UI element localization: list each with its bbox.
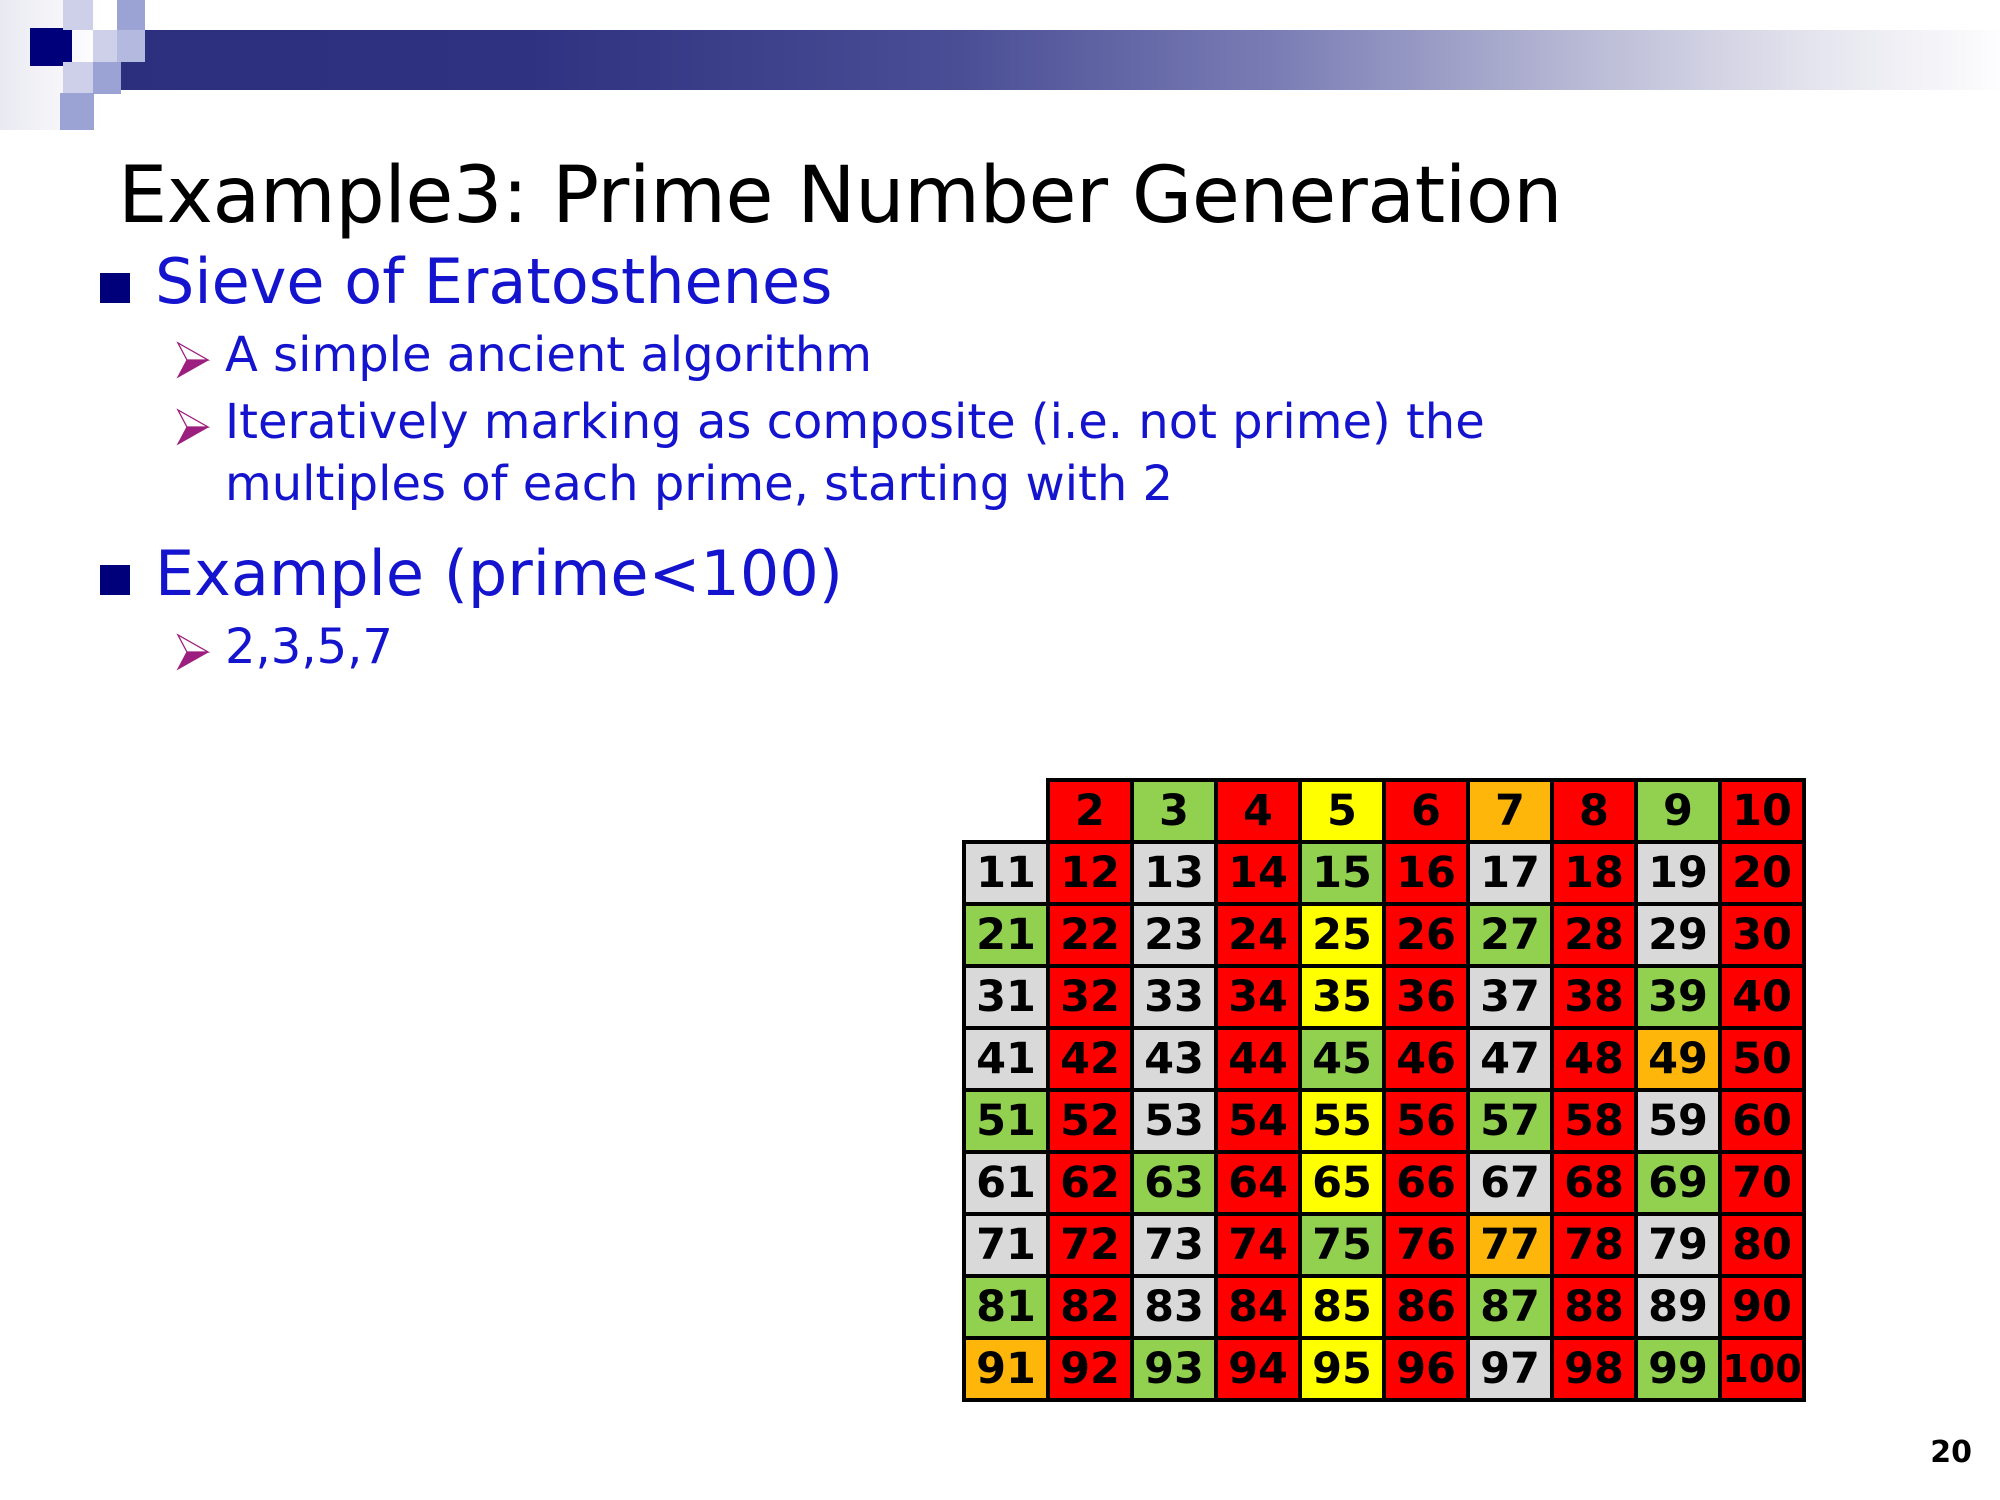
sieve-cell-42: 42 bbox=[1048, 1028, 1132, 1090]
sieve-cell-66: 66 bbox=[1384, 1152, 1468, 1214]
sieve-cell-59: 59 bbox=[1636, 1090, 1720, 1152]
sieve-cell-97: 97 bbox=[1468, 1338, 1552, 1400]
sieve-cell-58: 58 bbox=[1552, 1090, 1636, 1152]
sieve-cell-74: 74 bbox=[1216, 1214, 1300, 1276]
sieve-cell-98: 98 bbox=[1552, 1338, 1636, 1400]
banner-block-midblue-3 bbox=[117, 0, 145, 30]
sieve-cell-70: 70 bbox=[1720, 1152, 1804, 1214]
sieve-cell-4: 4 bbox=[1216, 780, 1300, 842]
bullet-label: Example (prime<100) bbox=[155, 537, 843, 610]
sieve-cell-19: 19 bbox=[1636, 842, 1720, 904]
sieve-cell-40: 40 bbox=[1720, 966, 1804, 1028]
sieve-cell-34: 34 bbox=[1216, 966, 1300, 1028]
sieve-cell-88: 88 bbox=[1552, 1276, 1636, 1338]
sieve-cell-37: 37 bbox=[1468, 966, 1552, 1028]
sieve-cell-68: 68 bbox=[1552, 1152, 1636, 1214]
sieve-cell-29: 29 bbox=[1636, 904, 1720, 966]
sieve-cell-96: 96 bbox=[1384, 1338, 1468, 1400]
sieve-grid-row: 11121314151617181920 bbox=[964, 842, 1804, 904]
sieve-grid-row: 61626364656667686970 bbox=[964, 1152, 1804, 1214]
sieve-cell-100: 100 bbox=[1720, 1338, 1804, 1400]
sieve-grid-row: 21222324252627282930 bbox=[964, 904, 1804, 966]
sieve-cell-83: 83 bbox=[1132, 1276, 1216, 1338]
sieve-cell-6: 6 bbox=[1384, 780, 1468, 842]
sieve-grid-row: 41424344454647484950 bbox=[964, 1028, 1804, 1090]
sieve-cell-82: 82 bbox=[1048, 1276, 1132, 1338]
sieve-cell-52: 52 bbox=[1048, 1090, 1132, 1152]
sieve-cell-60: 60 bbox=[1720, 1090, 1804, 1152]
sieve-cell-18: 18 bbox=[1552, 842, 1636, 904]
slide-title: Example3: Prime Number Generation bbox=[118, 157, 1918, 235]
sieve-cell-95: 95 bbox=[1300, 1338, 1384, 1400]
sieve-cell-85: 85 bbox=[1300, 1276, 1384, 1338]
banner-block-lightblue-3 bbox=[93, 30, 120, 63]
sieve-grid-row: 71727374757677787980 bbox=[964, 1214, 1804, 1276]
sieve-cell-44: 44 bbox=[1216, 1028, 1300, 1090]
sieve-cell-10: 10 bbox=[1720, 780, 1804, 842]
sieve-cell-55: 55 bbox=[1300, 1090, 1384, 1152]
arrow-bullet-icon bbox=[175, 632, 211, 672]
sieve-cell-22: 22 bbox=[1048, 904, 1132, 966]
sieve-grid-row: 51525354555657585960 bbox=[964, 1090, 1804, 1152]
sieve-cell-63: 63 bbox=[1132, 1152, 1216, 1214]
sieve-grid-row: 81828384858687888990 bbox=[964, 1276, 1804, 1338]
sieve-cell-80: 80 bbox=[1720, 1214, 1804, 1276]
banner-block-lightblue-4 bbox=[117, 30, 145, 62]
sieve-cell-61: 61 bbox=[964, 1152, 1048, 1214]
sieve-cell-33: 33 bbox=[1132, 966, 1216, 1028]
sieve-cell-81: 81 bbox=[964, 1276, 1048, 1338]
bullet-label: A simple ancient algorithm bbox=[225, 324, 872, 386]
sieve-cell-27: 27 bbox=[1468, 904, 1552, 966]
sieve-cell-32: 32 bbox=[1048, 966, 1132, 1028]
banner-block-lightblue-1 bbox=[63, 0, 93, 30]
banner-gradient-bar bbox=[110, 30, 2000, 90]
sieve-cell-12: 12 bbox=[1048, 842, 1132, 904]
sieve-cell-84: 84 bbox=[1216, 1276, 1300, 1338]
sieve-cell-53: 53 bbox=[1132, 1090, 1216, 1152]
sieve-cell-41: 41 bbox=[964, 1028, 1048, 1090]
sieve-cell-30: 30 bbox=[1720, 904, 1804, 966]
sieve-cell-78: 78 bbox=[1552, 1214, 1636, 1276]
sieve-cell-16: 16 bbox=[1384, 842, 1468, 904]
sieve-cell-2: 2 bbox=[1048, 780, 1132, 842]
sieve-cell-7: 7 bbox=[1468, 780, 1552, 842]
sieve-of-eratosthenes-grid: 2345678910111213141516171819202122232425… bbox=[962, 778, 1806, 1402]
sieve-cell-35: 35 bbox=[1300, 966, 1384, 1028]
bullet-label: 2,3,5,7 bbox=[225, 616, 393, 678]
sieve-cell-87: 87 bbox=[1468, 1276, 1552, 1338]
bullet-sieve-of-eratosthenes: Sieve of Eratosthenes bbox=[100, 245, 1500, 318]
banner-block-navy bbox=[30, 28, 72, 66]
bullet-simple-ancient-algorithm: A simple ancient algorithm bbox=[175, 324, 1500, 386]
sieve-cell-31: 31 bbox=[964, 966, 1048, 1028]
sieve-cell-94: 94 bbox=[1216, 1338, 1300, 1400]
sieve-cell-90: 90 bbox=[1720, 1276, 1804, 1338]
sieve-cell-50: 50 bbox=[1720, 1028, 1804, 1090]
sieve-cell-86: 86 bbox=[1384, 1276, 1468, 1338]
bullet-example-prime-100: Example (prime<100) bbox=[100, 537, 1500, 610]
sieve-cell-92: 92 bbox=[1048, 1338, 1132, 1400]
sieve-cell-empty bbox=[964, 780, 1048, 842]
square-bullet-icon bbox=[100, 273, 130, 303]
sieve-cell-93: 93 bbox=[1132, 1338, 1216, 1400]
sieve-cell-11: 11 bbox=[964, 842, 1048, 904]
sieve-cell-8: 8 bbox=[1552, 780, 1636, 842]
sieve-cell-73: 73 bbox=[1132, 1214, 1216, 1276]
bullet-label: Sieve of Eratosthenes bbox=[155, 245, 832, 318]
sieve-cell-72: 72 bbox=[1048, 1214, 1132, 1276]
sieve-cell-47: 47 bbox=[1468, 1028, 1552, 1090]
sieve-cell-49: 49 bbox=[1636, 1028, 1720, 1090]
arrow-bullet-icon bbox=[175, 407, 211, 447]
sieve-cell-75: 75 bbox=[1300, 1214, 1384, 1276]
sieve-cell-43: 43 bbox=[1132, 1028, 1216, 1090]
sieve-cell-17: 17 bbox=[1468, 842, 1552, 904]
sieve-cell-71: 71 bbox=[964, 1214, 1048, 1276]
sieve-cell-77: 77 bbox=[1468, 1214, 1552, 1276]
bullet-prime-list: 2,3,5,7 bbox=[175, 616, 1500, 678]
sieve-cell-28: 28 bbox=[1552, 904, 1636, 966]
sieve-cell-45: 45 bbox=[1300, 1028, 1384, 1090]
sieve-cell-3: 3 bbox=[1132, 780, 1216, 842]
sieve-cell-64: 64 bbox=[1216, 1152, 1300, 1214]
sieve-cell-67: 67 bbox=[1468, 1152, 1552, 1214]
sieve-cell-15: 15 bbox=[1300, 842, 1384, 904]
banner-block-midblue-2 bbox=[93, 62, 121, 94]
sieve-cell-21: 21 bbox=[964, 904, 1048, 966]
sieve-cell-23: 23 bbox=[1132, 904, 1216, 966]
sieve-cell-24: 24 bbox=[1216, 904, 1300, 966]
sieve-cell-57: 57 bbox=[1468, 1090, 1552, 1152]
sieve-cell-14: 14 bbox=[1216, 842, 1300, 904]
sieve-cell-36: 36 bbox=[1384, 966, 1468, 1028]
sieve-cell-76: 76 bbox=[1384, 1214, 1468, 1276]
sieve-cell-46: 46 bbox=[1384, 1028, 1468, 1090]
bullet-label: Iteratively marking as composite (i.e. n… bbox=[225, 391, 1485, 516]
sieve-cell-99: 99 bbox=[1636, 1338, 1720, 1400]
banner-block-midblue-1 bbox=[60, 93, 94, 130]
sieve-cell-65: 65 bbox=[1300, 1152, 1384, 1214]
arrow-bullet-icon bbox=[175, 340, 211, 380]
slide-number: 20 bbox=[1930, 1435, 1972, 1470]
sieve-cell-20: 20 bbox=[1720, 842, 1804, 904]
sieve-cell-48: 48 bbox=[1552, 1028, 1636, 1090]
sieve-cell-79: 79 bbox=[1636, 1214, 1720, 1276]
sieve-cell-69: 69 bbox=[1636, 1152, 1720, 1214]
sieve-cell-26: 26 bbox=[1384, 904, 1468, 966]
sieve-grid-body: 2345678910111213141516171819202122232425… bbox=[964, 780, 1804, 1400]
sieve-cell-13: 13 bbox=[1132, 842, 1216, 904]
sieve-cell-38: 38 bbox=[1552, 966, 1636, 1028]
sieve-cell-89: 89 bbox=[1636, 1276, 1720, 1338]
sieve-cell-51: 51 bbox=[964, 1090, 1048, 1152]
sieve-cell-25: 25 bbox=[1300, 904, 1384, 966]
sieve-grid-row: 919293949596979899100 bbox=[964, 1338, 1804, 1400]
sieve-cell-5: 5 bbox=[1300, 780, 1384, 842]
slide-body: Sieve of Eratosthenes A simple ancient a… bbox=[0, 245, 1500, 683]
sieve-cell-62: 62 bbox=[1048, 1152, 1132, 1214]
sieve-cell-39: 39 bbox=[1636, 966, 1720, 1028]
sieve-cell-9: 9 bbox=[1636, 780, 1720, 842]
sieve-cell-54: 54 bbox=[1216, 1090, 1300, 1152]
sieve-cell-56: 56 bbox=[1384, 1090, 1468, 1152]
banner-block-lightblue-2 bbox=[63, 62, 94, 93]
sieve-grid-row: 31323334353637383940 bbox=[964, 966, 1804, 1028]
sieve-grid-row: 2345678910 bbox=[964, 780, 1804, 842]
slide-header-banner bbox=[0, 0, 2000, 130]
sieve-cell-91: 91 bbox=[964, 1338, 1048, 1400]
bullet-iteratively-marking: Iteratively marking as composite (i.e. n… bbox=[175, 391, 1500, 516]
square-bullet-icon bbox=[100, 565, 130, 595]
